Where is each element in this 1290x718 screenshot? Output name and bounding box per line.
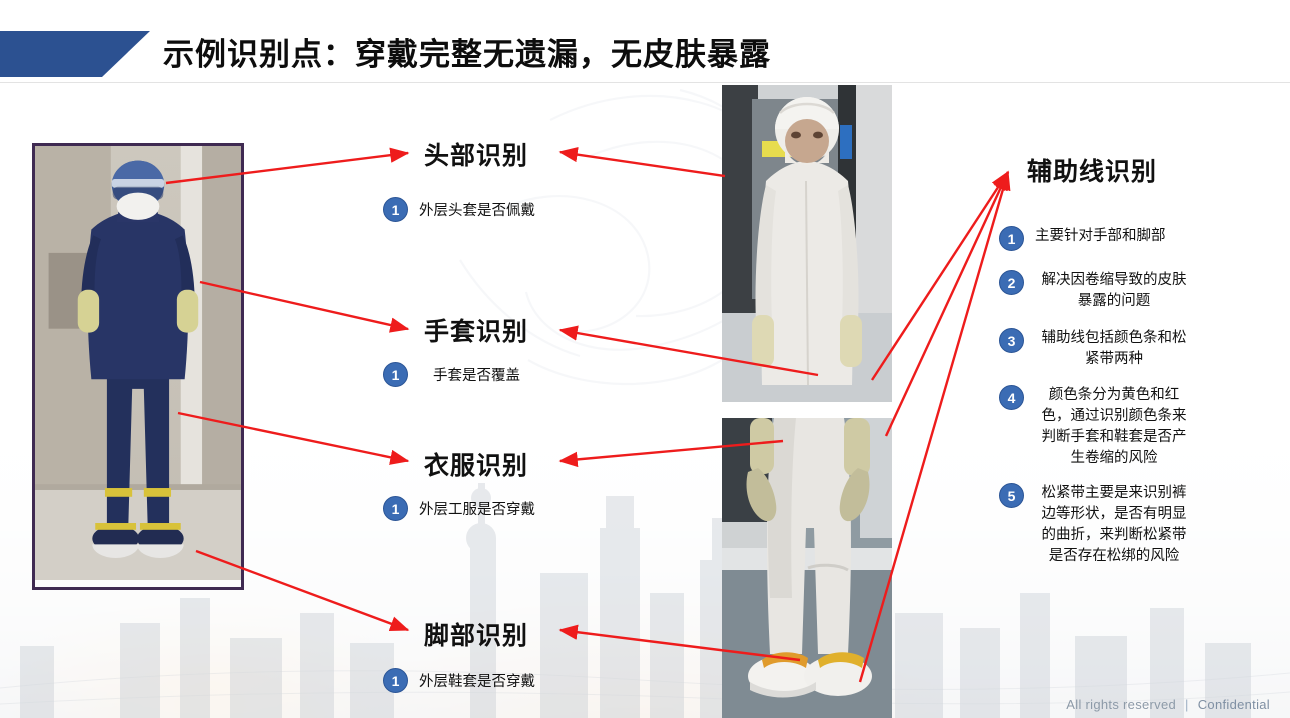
section-title-feet: 脚部识别 xyxy=(424,616,528,652)
bullet-clothing-1: 1 外层工服是否穿戴 xyxy=(383,496,535,521)
footer: All rights reserved | Confidential xyxy=(1066,697,1270,712)
header-divider xyxy=(0,82,1290,83)
bullet-number: 1 xyxy=(383,197,408,222)
bullet-text: 手套是否覆盖 xyxy=(433,364,520,385)
footer-rights: All rights reserved xyxy=(1066,697,1176,712)
bullet-text: 辅助线包括颜色条和松紧带两种 xyxy=(1035,328,1193,370)
bullet-number: 3 xyxy=(999,328,1024,353)
bullet-text: 松紧带主要是来识别裤边等形状，是否有明显的曲折，来判断松紧带是否存在松绑的风险 xyxy=(1035,483,1193,567)
section-title-auxiliary-line: 辅助线识别 xyxy=(1027,152,1157,188)
bullet-text: 解决因卷缩导致的皮肤暴露的问题 xyxy=(1035,270,1193,312)
bullet-feet-1: 1 外层鞋套是否穿戴 xyxy=(383,668,535,693)
section-title-gloves: 手套识别 xyxy=(424,312,528,348)
bullet-number: 1 xyxy=(383,668,408,693)
bullet-gloves-1: 1 手套是否覆盖 xyxy=(383,362,520,387)
page-title: 示例识别点：穿戴完整无遗漏，无皮肤暴露 xyxy=(163,29,771,74)
footer-separator: | xyxy=(1185,697,1189,712)
bullet-number: 4 xyxy=(999,385,1024,410)
header-accent-shape xyxy=(0,31,150,77)
footer-confidential: Confidential xyxy=(1198,697,1270,712)
arrow-head-right xyxy=(560,152,725,176)
photo-cleanroom-suit-lower xyxy=(722,418,892,718)
bullet-number: 2 xyxy=(999,270,1024,295)
slide-canvas: 示例识别点：穿戴完整无遗漏，无皮肤暴露 xyxy=(0,0,1290,718)
aux-item-4: 4 颜色条分为黄色和红色，通过识别颜色条来判断手套和鞋套是否产生卷缩的风险 xyxy=(999,385,1193,469)
photo-worker-blue-coverall xyxy=(32,143,244,590)
bullet-head-1: 1 外层头套是否佩戴 xyxy=(383,197,535,222)
bullet-number: 1 xyxy=(383,496,408,521)
bullet-text: 外层鞋套是否穿戴 xyxy=(419,670,535,691)
aux-item-2: 2 解决因卷缩导致的皮肤暴露的问题 xyxy=(999,270,1193,312)
aux-item-5: 5 松紧带主要是来识别裤边等形状，是否有明显的曲折，来判断松紧带是否存在松绑的风… xyxy=(999,483,1193,567)
aux-item-3: 3 辅助线包括颜色条和松紧带两种 xyxy=(999,328,1193,370)
section-title-clothing: 衣服识别 xyxy=(424,446,528,482)
photo-cleanroom-suit-upper xyxy=(722,85,892,402)
bullet-number: 5 xyxy=(999,483,1024,508)
aux-item-1: 1 主要针对手部和脚部 xyxy=(999,226,1193,251)
bullet-text: 颜色条分为黄色和红色，通过识别颜色条来判断手套和鞋套是否产生卷缩的风险 xyxy=(1035,385,1193,469)
bullet-number: 1 xyxy=(999,226,1024,251)
bullet-text: 外层头套是否佩戴 xyxy=(419,199,535,220)
bullet-number: 1 xyxy=(383,362,408,387)
bullet-text: 外层工服是否穿戴 xyxy=(419,498,535,519)
section-title-head: 头部识别 xyxy=(424,136,528,172)
bullet-text: 主要针对手部和脚部 xyxy=(1035,226,1193,247)
